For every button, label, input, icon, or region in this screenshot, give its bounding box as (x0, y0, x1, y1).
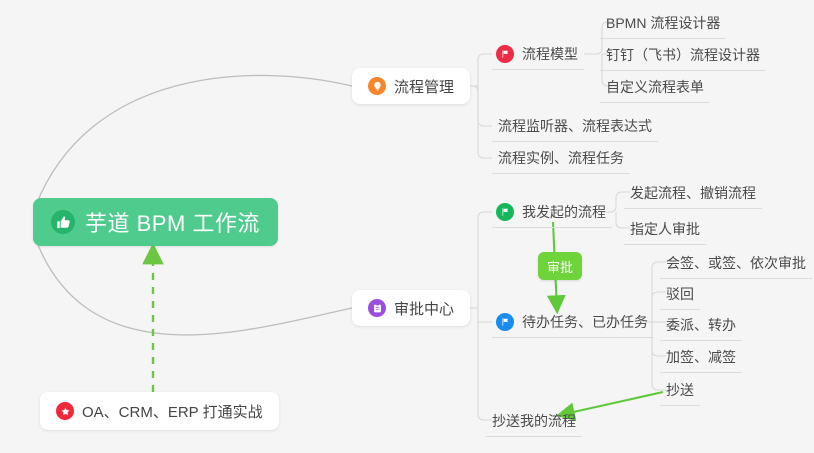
mindmap-canvas: 芋道 BPM 工作流 流程管理 流程模型 BPMN 流程设计器 钉钉（飞书）流程… (0, 0, 814, 453)
node-label-listener-expression: 流程监听器、流程表达式 (498, 116, 652, 136)
edge-ac-to-ccme (478, 308, 492, 420)
node-custom-process-form[interactable]: 自定义流程表单 (600, 74, 710, 103)
edge-root-to-approval-center (36, 240, 352, 335)
node-delegate-transfer[interactable]: 委派、转办 (660, 312, 742, 341)
node-label-instance-task: 流程实例、流程任务 (498, 148, 624, 168)
node-process-model[interactable]: 流程模型 (492, 41, 584, 70)
node-label-start-cancel: 发起流程、撤销流程 (630, 183, 756, 203)
edge-ac-to-myinit (478, 212, 492, 308)
node-bpmn-designer[interactable]: BPMN 流程设计器 (600, 10, 726, 39)
node-start-cancel[interactable]: 发起流程、撤销流程 (624, 180, 762, 209)
node-label-dingtalk-feishu-designer: 钉钉（飞书）流程设计器 (606, 45, 760, 65)
node-label-delegate-transfer: 委派、转办 (666, 315, 736, 335)
node-label-countersign: 会签、或签、依次审批 (666, 253, 806, 273)
node-label-assignee-approval: 指定人审批 (630, 219, 700, 239)
node-my-initiated[interactable]: 我发起的流程 (492, 199, 612, 228)
node-todo-done-task[interactable]: 待办任务、已办任务 (492, 309, 654, 338)
node-label-custom-process-form: 自定义流程表单 (606, 77, 704, 97)
node-countersign[interactable]: 会签、或签、依次审批 (660, 250, 812, 279)
node-dingtalk-feishu-designer[interactable]: 钉钉（飞书）流程设计器 (600, 42, 766, 71)
branch-node-approval-center[interactable]: 审批中心 (352, 290, 470, 326)
lightbulb-icon (368, 77, 386, 95)
node-label-reject: 驳回 (666, 284, 694, 304)
node-assignee-approval[interactable]: 指定人审批 (624, 216, 706, 245)
edge-pm-to-listener (478, 86, 492, 126)
thumbs-up-icon (51, 210, 75, 234)
node-label-add-remove-sign: 加签、减签 (666, 347, 736, 367)
branch-node-process-management[interactable]: 流程管理 (352, 68, 470, 104)
edge-root-to-process-management (36, 75, 352, 205)
approval-tag-label: 审批 (547, 257, 573, 276)
branch-label-approval-center: 审批中心 (394, 298, 454, 319)
node-label-my-initiated: 我发起的流程 (522, 202, 606, 222)
node-cc[interactable]: 抄送 (660, 377, 700, 406)
flag-icon (496, 313, 514, 331)
root-node-label: 芋道 BPM 工作流 (85, 206, 260, 238)
node-cc-to-me[interactable]: 抄送我的流程 (486, 408, 582, 437)
bottom-highlight-card-label: OA、CRM、ERP 打通实战 (82, 401, 263, 422)
flag-icon (496, 45, 514, 63)
edge-ac-to-todo (478, 308, 492, 322)
node-listener-expression[interactable]: 流程监听器、流程表达式 (492, 113, 658, 142)
approval-tag: 审批 (538, 252, 582, 280)
node-label-cc: 抄送 (666, 380, 694, 400)
node-reject[interactable]: 驳回 (660, 281, 700, 310)
node-label-process-model: 流程模型 (522, 44, 578, 64)
node-label-todo-done-task: 待办任务、已办任务 (522, 312, 648, 332)
bottom-highlight-card[interactable]: OA、CRM、ERP 打通实战 (40, 392, 279, 430)
node-add-remove-sign[interactable]: 加签、减签 (660, 344, 742, 373)
branch-label-process-management: 流程管理 (394, 76, 454, 97)
node-instance-task[interactable]: 流程实例、流程任务 (492, 145, 630, 174)
root-node[interactable]: 芋道 BPM 工作流 (33, 198, 278, 246)
node-label-bpmn-designer: BPMN 流程设计器 (606, 13, 720, 33)
edge-pm-to-instance (478, 86, 492, 158)
node-label-cc-to-me: 抄送我的流程 (492, 411, 576, 431)
flag-icon (496, 203, 514, 221)
star-icon (56, 402, 74, 420)
clipboard-icon (368, 299, 386, 317)
